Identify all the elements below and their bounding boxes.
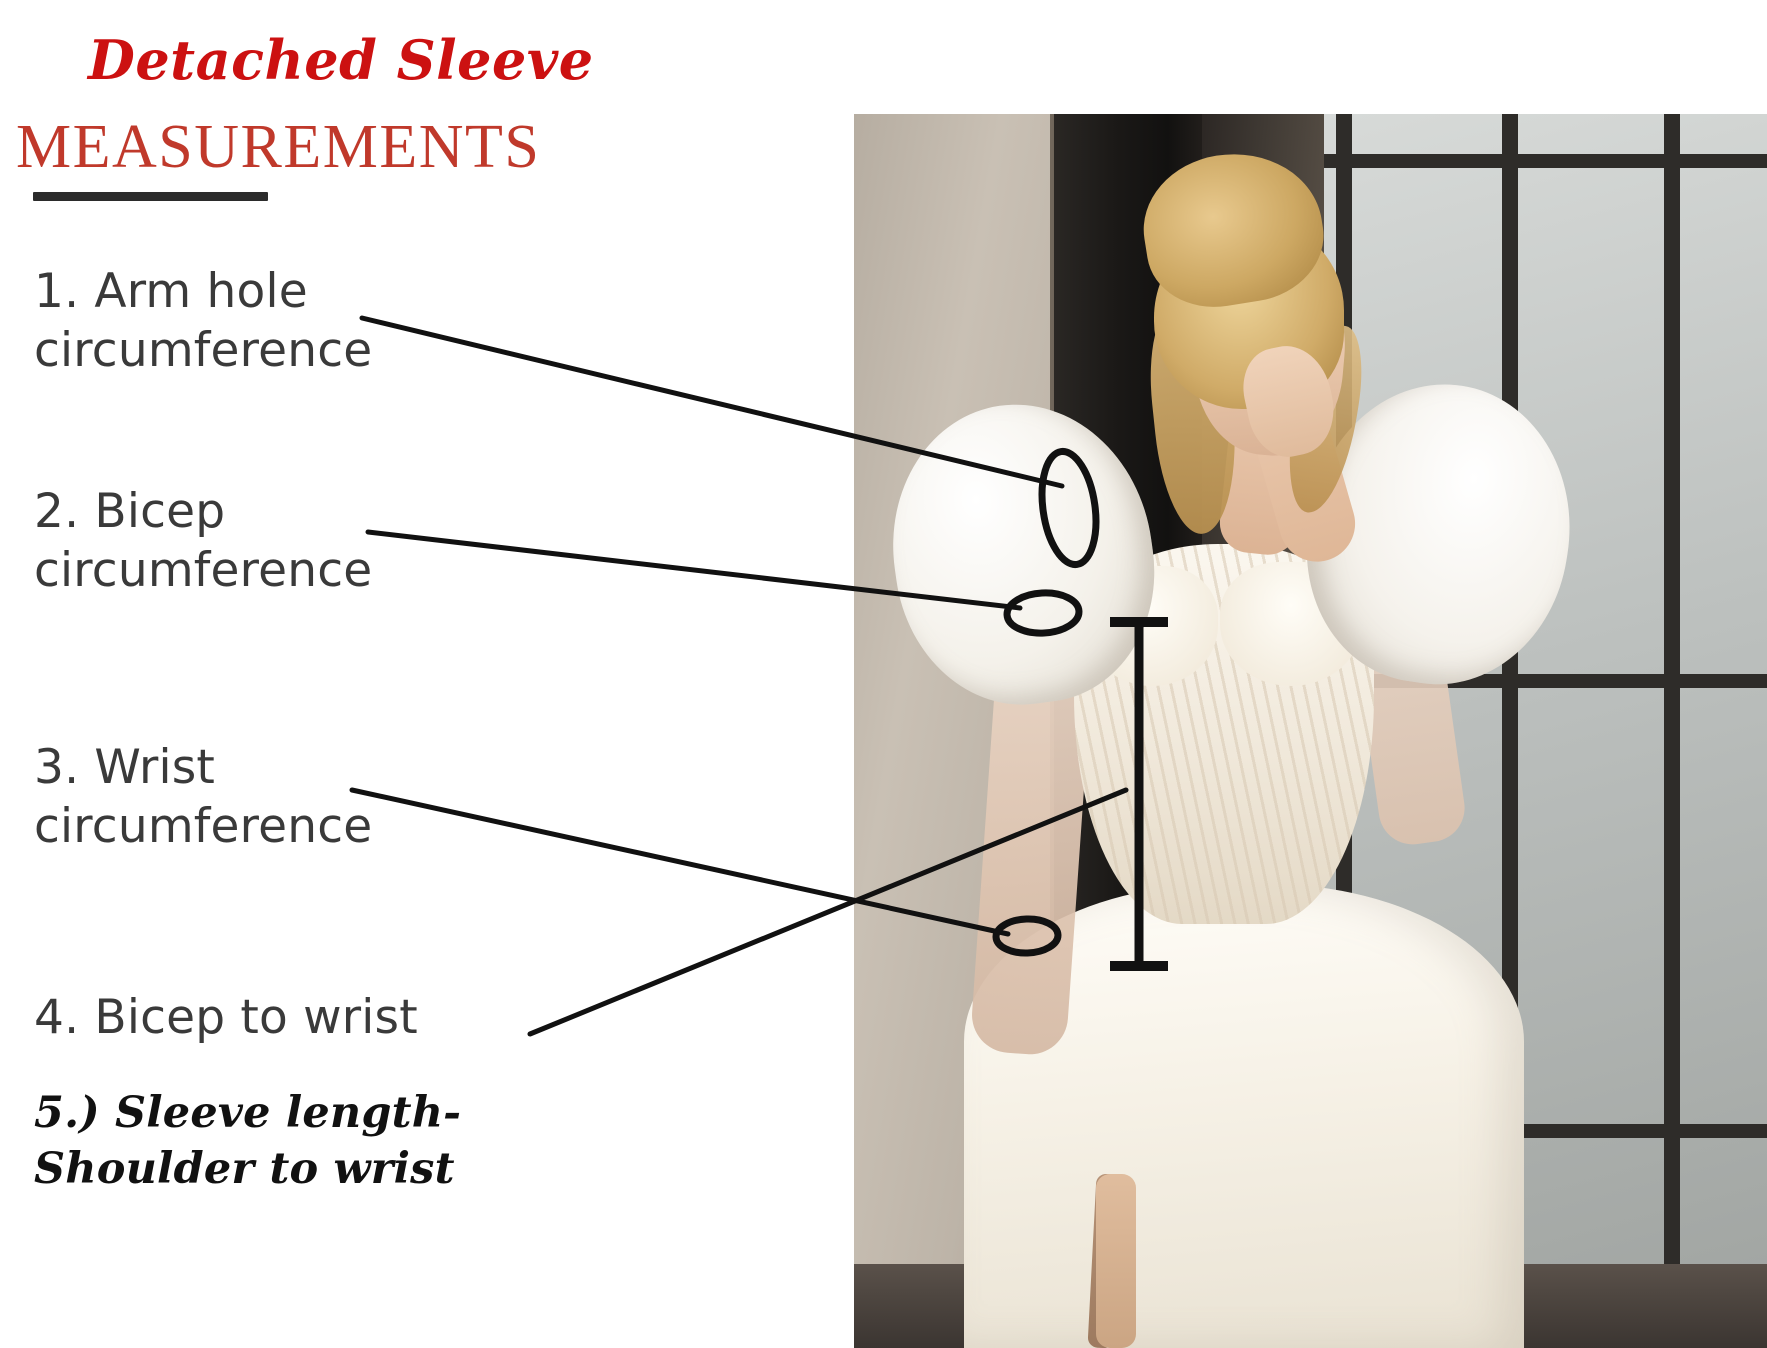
measurement-item-3: 3. Wrist circumference xyxy=(34,738,372,856)
measurement-item-4: 4. Bicep to wrist xyxy=(34,988,418,1047)
poster-root: Detached Sleeve MEASUREMENTS 1. Arm hole… xyxy=(0,0,1767,1348)
photo-window-rail-1 xyxy=(1324,154,1767,168)
measurement-item-5: 5.) Sleeve length- Shoulder to wrist xyxy=(34,1086,461,1198)
page-title-caps: MEASUREMENTS xyxy=(16,112,540,183)
measurement-item-1: 1. Arm hole circumference xyxy=(34,262,372,380)
photo-window-mullion-3 xyxy=(1664,114,1680,1348)
title-underline-rule xyxy=(33,192,268,201)
measurements-panel: Detached Sleeve MEASUREMENTS 1. Arm hole… xyxy=(0,0,860,1348)
measurement-item-2: 2. Bicep circumference xyxy=(34,482,372,600)
model-leg xyxy=(1096,1174,1136,1348)
page-title-script: Detached Sleeve xyxy=(88,28,594,92)
model-photo xyxy=(854,114,1767,1348)
